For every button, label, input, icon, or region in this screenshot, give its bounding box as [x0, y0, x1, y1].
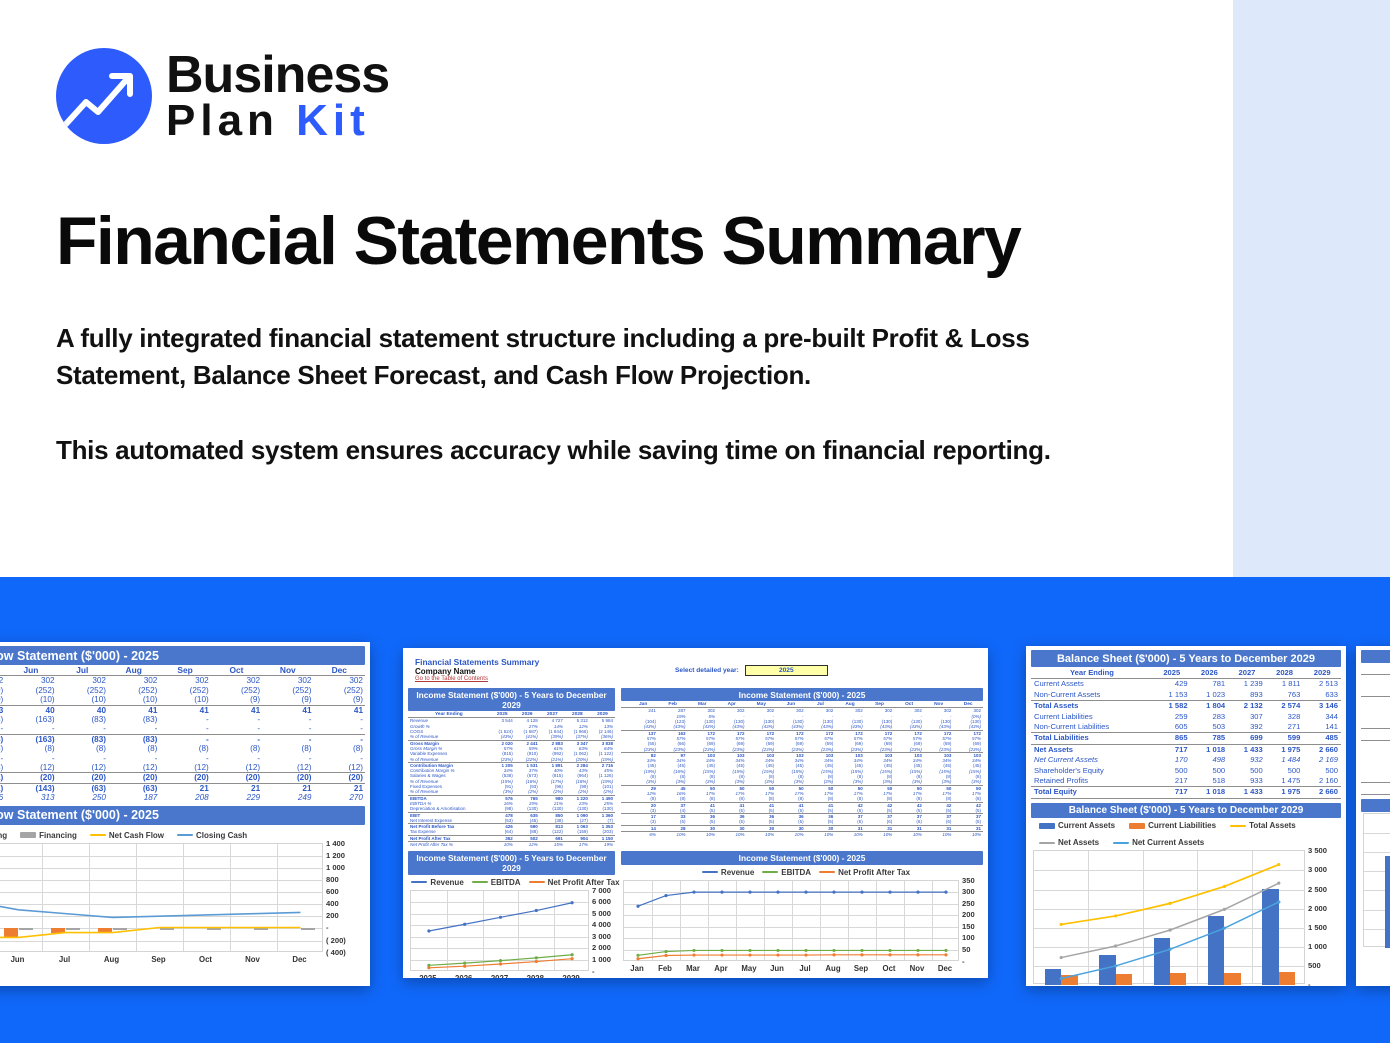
y-axis-tick: 2 000	[1308, 904, 1327, 913]
table-cell: 17%	[565, 842, 590, 848]
table-cell: -	[159, 734, 210, 744]
x-axis-tick: Feb	[651, 964, 679, 973]
legend-swatch	[90, 834, 106, 836]
table-cell: 10%	[687, 832, 717, 838]
table-cell: 1 018	[1191, 744, 1229, 755]
table-cell: 1 153	[1153, 690, 1191, 701]
cashflow-chart-title: Cash Flow Statement ($'000) - 2025	[0, 806, 365, 825]
y-axis-tick: 2 000	[592, 943, 611, 952]
legend-swatch	[472, 881, 488, 883]
x-axis-tick: Sep	[135, 955, 182, 964]
table-cell: (8)	[262, 744, 313, 753]
table-cell: 500	[1191, 766, 1229, 776]
table-row: 93	[1361, 708, 1390, 718]
y-axis-tick: 250	[962, 899, 975, 908]
legend-label: EBITDA	[491, 878, 521, 887]
column-header: Dec	[314, 666, 366, 676]
table-cell: 10%	[776, 832, 806, 838]
table-cell: (252)	[211, 686, 262, 695]
y-axis-tick: 500	[1308, 961, 1321, 970]
table-cell: 1 433	[1228, 744, 1266, 755]
legend-label: Current Assets	[1058, 821, 1115, 830]
row-label: Total Liabilities	[1031, 733, 1153, 744]
legend-item: EBITDA	[472, 878, 521, 887]
brand-name-line1: Business	[166, 51, 389, 100]
x-axis-tick: Jun	[0, 955, 41, 964]
plot-area	[623, 880, 959, 961]
table-row: Net Interest Expense(53)(45)(38)(27)(7)	[408, 818, 615, 824]
table-cell: 2 160	[1303, 776, 1341, 787]
table-cell: (12)	[159, 763, 210, 773]
table-row: Variable Expenses(815)(910)(992)(1 062)(…	[408, 751, 615, 756]
legend-item: EBITDA	[762, 868, 811, 877]
y-axis-tick: 600	[326, 887, 339, 896]
table-cell: (10)	[57, 695, 108, 705]
y-axis-tick: 1 200	[326, 851, 345, 860]
table-cell: 1 023	[1191, 690, 1229, 701]
growth-chart-icon	[56, 48, 152, 144]
table-cell: 124	[1361, 686, 1390, 697]
column-header: Jan	[1361, 664, 1390, 675]
table-cell: 12	[1361, 772, 1390, 783]
table-cell: -	[108, 724, 159, 734]
y-axis-tick: 400	[326, 899, 339, 908]
table-row: Salaries & Wages(538)(673)(815)(964)(1 1…	[408, 773, 615, 778]
year-picker-dropdown[interactable]: 2025	[745, 665, 828, 676]
table-cell: 10%	[806, 832, 836, 838]
table-cell: (163)	[5, 734, 56, 744]
table-cell: 21	[211, 783, 262, 793]
table-cell: -	[314, 724, 366, 734]
table-cell: 500	[1303, 766, 1341, 776]
table-cell: 302	[5, 676, 56, 686]
table-cell: 208	[159, 793, 210, 802]
balancesheet-screenshot-card[interactable]: Balance Sheet ($'000) - 5 Years to Decem…	[1026, 646, 1346, 986]
x-axis-tick: May	[735, 964, 763, 973]
legend-label: Net Profit After Tax	[838, 868, 910, 877]
table-cell: 599	[1266, 733, 1304, 744]
table-cell: 302	[57, 676, 108, 686]
table-cell: 19%	[590, 842, 615, 848]
table-row: 456313250187208229249270	[0, 793, 365, 802]
table-row: Retained Profits2175189331 4752 160	[1031, 776, 1341, 787]
y-axis-tick: ( 200)	[326, 936, 346, 945]
row-label: Net Assets	[1031, 744, 1153, 755]
row-label: Shareholder's Equity	[1031, 766, 1153, 776]
table-cell: -	[159, 715, 210, 724]
x-axis-tick: Nov	[229, 955, 276, 964]
table-cell: -	[57, 754, 108, 763]
table-cell: -	[108, 754, 159, 763]
table-row: (141)(143)(63)(63)21212121	[0, 783, 365, 793]
table-cell: (20)	[5, 773, 56, 783]
table-cell: (10)	[108, 695, 159, 705]
table-row: Total Equity7171 0181 4331 9752 660	[1031, 787, 1341, 798]
legend-swatch	[177, 834, 193, 836]
table-cell: 10%	[894, 832, 924, 838]
row-label: Current Assets	[1031, 679, 1153, 690]
table-header-row: Jan	[1361, 664, 1390, 675]
legend-item: Closing Cash	[177, 831, 247, 840]
table-row: Net Profit After Tax %10%12%15%17%19%	[408, 842, 615, 848]
table-cell: (12)	[211, 763, 262, 773]
table-cell: 302	[108, 676, 159, 686]
legend-label: EBITDA	[781, 868, 811, 877]
legend-item: Revenue	[411, 878, 463, 887]
y-axis-tick: 1 000	[1308, 942, 1327, 951]
table-cell: 1 475	[1266, 776, 1304, 787]
table-cell: 1 081	[1361, 751, 1390, 761]
table-cell: (143)	[5, 783, 56, 793]
table-of-contents-link[interactable]: Go to the Table of Contents	[408, 676, 983, 682]
x-axis-tick: Jan	[1363, 950, 1390, 959]
table-row: 500	[1361, 762, 1390, 772]
table-cell: -	[159, 754, 210, 763]
table-cell: 283	[1191, 712, 1229, 722]
y-axis-tick: 3 000	[592, 932, 611, 941]
table-cell: 1 811	[1266, 679, 1304, 690]
table-cell: -	[5, 754, 56, 763]
table-cell: 41	[314, 705, 366, 715]
y-axis-tick: 350	[962, 876, 975, 885]
x-axis-tick: Dec	[931, 964, 959, 973]
table-row: 1 297	[1361, 697, 1390, 708]
summary-screenshot-card[interactable]: Financial Statements Summary Company Nam…	[403, 648, 988, 978]
table-cell: (20)	[159, 773, 210, 783]
table-cell: 259	[1153, 712, 1191, 722]
table-cell: 271	[1266, 722, 1304, 733]
table-cell: (163)	[5, 715, 56, 724]
y-axis-tick: 300	[962, 887, 975, 896]
table-cell: (8)	[108, 744, 159, 753]
table-row: Net Current Assets1704989321 4842 169	[1031, 755, 1341, 765]
table-cell: 2 660	[1303, 744, 1341, 755]
brand-kit-word: Kit	[296, 96, 370, 145]
table-row: Shareholder's Equity500500500500500	[1031, 766, 1341, 776]
table-cell: 717	[1153, 744, 1191, 755]
table-cell: (12)	[5, 763, 56, 773]
table-cell: 699	[1228, 733, 1266, 744]
table-cell: 429	[1153, 679, 1191, 690]
table-cell: 763	[1266, 690, 1304, 701]
table-cell: 41	[262, 705, 313, 715]
table-cell: (12)	[314, 763, 366, 773]
table-cell: -	[57, 724, 108, 734]
legend-swatch	[20, 832, 36, 838]
hero-section: Business Plan Kit Financial Statements S…	[0, 0, 1390, 577]
table-cell: (63)	[57, 783, 108, 793]
table-cell: 1 804	[1191, 701, 1229, 712]
table-cell: 933	[1228, 776, 1266, 787]
table-row: (8)(8)(8)(8)(8)(8)(8)(8)	[0, 744, 365, 753]
row-label: Net Profit After Tax %	[408, 842, 490, 848]
table-cell: (9)	[211, 695, 262, 705]
annual-income-chart-title: Income Statement ($'000) - 5 Years to De…	[408, 851, 615, 874]
legend-swatch	[1039, 823, 1055, 829]
legend-swatch	[762, 871, 778, 873]
legend-item: Net Profit After Tax	[819, 868, 910, 877]
hero-side-panel	[1233, 0, 1390, 577]
table-cell: 2 574	[1266, 701, 1304, 712]
table-row: 692	[1361, 718, 1390, 729]
table-cell: (9)	[314, 695, 366, 705]
row-label: Net Current Assets	[1031, 755, 1153, 765]
year-picker-label: Select detailed year:	[675, 667, 739, 674]
monthly-balancesheet-chart: Jan	[1361, 813, 1390, 963]
table-cell: 10%	[953, 832, 983, 838]
column-header: Oct	[211, 666, 262, 676]
x-axis-tick: Dec	[276, 955, 323, 964]
table-cell: (83)	[108, 715, 159, 724]
row-label: Total Equity	[1031, 787, 1153, 798]
table-cell: 717	[1153, 787, 1191, 798]
table-row: 1 174	[1361, 675, 1390, 686]
y-axis-tick: ( 400)	[326, 948, 346, 957]
column-header: Sep	[159, 666, 210, 676]
legend-label: Revenue	[430, 878, 463, 887]
row-label	[621, 832, 628, 838]
table-row: 302302302302302302302302	[0, 676, 365, 686]
table-row: --------	[0, 724, 365, 734]
table-cell: (20)	[57, 773, 108, 783]
table-cell: (83)	[57, 734, 108, 744]
table-row: Net Assets7171 0181 4331 9752 660	[1031, 744, 1341, 755]
table-cell: 500	[1361, 762, 1390, 772]
column-header: 2028	[1266, 668, 1304, 679]
table-cell: (252)	[5, 686, 56, 695]
legend-swatch	[819, 871, 835, 873]
table-cell: 485	[1303, 733, 1341, 744]
table-cell: 10%	[924, 832, 954, 838]
legend-item: Net Current Assets	[1113, 838, 1204, 847]
table-cell: (8)	[314, 744, 366, 753]
table-row: 6%10%10%10%10%10%10%10%10%10%10%10%	[621, 832, 983, 838]
y-axis-tick: 1 500	[1308, 923, 1327, 932]
x-axis-tick: Oct	[182, 955, 229, 964]
monthly-income-table: JanFebMarAprMayJunJulAugSepOctNovDec2412…	[621, 702, 983, 837]
column-header: Jun	[5, 666, 56, 676]
brand-plan-word: Plan	[166, 96, 279, 145]
table-cell: (20)	[262, 773, 313, 783]
table-cell: 932	[1228, 755, 1266, 765]
table-cell: 250	[57, 793, 108, 802]
table-row: Non-Current Assets1 1531 023893763633	[1031, 690, 1341, 701]
legend-item: Investing	[0, 831, 7, 840]
table-cell: -	[211, 715, 262, 724]
table-cell: (9)	[262, 695, 313, 705]
table-row: --------	[0, 754, 365, 763]
row-label: Year Ending	[1031, 668, 1153, 679]
table-cell: 270	[314, 793, 366, 802]
table-row: (249)(252)(252)(252)(252)(252)(252)(252)	[0, 686, 365, 695]
table-row: (21)(20)(20)(20)(20)(20)(20)(20)	[0, 773, 365, 783]
cashflow-chart-legend: InvestingFinancingNet Cash FlowClosing C…	[0, 829, 365, 843]
table-cell: 229	[211, 793, 262, 802]
table-cell: 512	[1361, 740, 1390, 751]
monthly-balancesheet-title	[1361, 650, 1390, 663]
table-cell: 2 513	[1303, 679, 1341, 690]
x-axis-tick: Jan	[623, 964, 651, 973]
table-cell: 313	[5, 793, 56, 802]
plot-area	[1363, 813, 1390, 947]
table-row: 512	[1361, 783, 1390, 794]
x-axis-tick: Jun	[763, 964, 791, 973]
table-cell: 10%	[658, 832, 688, 838]
x-axis-tick: Aug	[819, 964, 847, 973]
table-row: 1 081	[1361, 751, 1390, 761]
table-cell: 302	[159, 676, 210, 686]
table-row: Total Assets1 5821 8042 1322 5743 146	[1031, 701, 1341, 712]
table-cell: 307	[1228, 712, 1266, 722]
legend-label: Current Liabilities	[1148, 821, 1216, 830]
table-cell: 893	[1228, 690, 1266, 701]
hero-paragraph-1: A fully integrated financial statement s…	[56, 320, 1156, 394]
table-cell: (8)	[159, 744, 210, 753]
legend-swatch	[1039, 842, 1055, 844]
table-row: 512	[1361, 740, 1390, 751]
legend-label: Investing	[0, 831, 7, 840]
table-cell: -	[211, 754, 262, 763]
table-cell: 2 169	[1303, 755, 1341, 765]
table-cell: (252)	[159, 686, 210, 695]
monthly-chart-legend: RevenueEBITDANet Profit After Tax	[621, 866, 983, 880]
table-cell: 21	[262, 783, 313, 793]
table-cell: 344	[1303, 712, 1341, 722]
legend-label: Net Current Assets	[1132, 838, 1204, 847]
y-axis-tick: 100	[962, 933, 975, 942]
x-axis-tick: 2027	[482, 974, 518, 979]
x-axis-tick: Jul	[41, 955, 88, 964]
y-axis-tick: 1 000	[592, 955, 611, 964]
y-axis-tick: 5 000	[592, 909, 611, 918]
y-axis-tick: 7 000	[592, 886, 611, 895]
table-row: 12	[1361, 772, 1390, 783]
table-cell: 500	[1153, 766, 1191, 776]
table-cell: 10%	[490, 842, 515, 848]
hero-paragraph-2: This automated system ensures accuracy w…	[56, 432, 1156, 469]
table-cell: -	[211, 724, 262, 734]
legend-label: Net Cash Flow	[109, 831, 164, 840]
table-cell: (83)	[108, 734, 159, 744]
row-label: Retained Profits	[1031, 776, 1153, 787]
table-cell: 249	[262, 793, 313, 802]
year-picker[interactable]: Select detailed year: 2025	[675, 665, 828, 676]
table-row: Depreciation & Amortisation(98)(130)(130…	[408, 806, 615, 812]
x-axis-tick: Apr	[707, 964, 735, 973]
y-axis-tick: -	[592, 967, 595, 976]
table-cell: 3 146	[1303, 701, 1341, 712]
x-axis-tick: 2025	[410, 974, 446, 979]
y-axis-tick: 1 000	[326, 863, 345, 872]
column-header: 2026	[1191, 668, 1229, 679]
monthly-balancesheet-screenshot-card[interactable]: Jan1 1741241 297936927865121 08150012512…	[1356, 646, 1390, 986]
table-cell: 170	[1153, 755, 1191, 765]
page-title: Financial Statements Summary	[56, 202, 1176, 280]
legend-item: Total Assets	[1230, 821, 1296, 830]
annual-income-table: Year Ending20252026202720282029Revenue3 …	[408, 712, 615, 847]
table-cell: (252)	[108, 686, 159, 695]
balancesheet-chart-title: Balance Sheet ($'000) - 5 Years to Decem…	[1031, 803, 1341, 818]
y-axis-tick: 800	[326, 875, 339, 884]
table-row: Non-Current Liabilities605503392271141	[1031, 722, 1341, 733]
table-header-row: Year Ending20252026202720282029	[1031, 668, 1341, 679]
legend-item: Current Liabilities	[1129, 821, 1216, 830]
table-cell: -	[5, 724, 56, 734]
table-cell: 40	[5, 705, 56, 715]
x-axis-tick: 2029	[553, 974, 589, 979]
table-cell: (12)	[57, 763, 108, 773]
table-cell: 40	[57, 705, 108, 715]
legend-swatch	[1230, 825, 1246, 827]
y-axis-tick: 3 500	[1308, 846, 1327, 855]
legend-swatch	[1129, 823, 1145, 829]
legend-label: Closing Cash	[196, 831, 247, 840]
table-cell: 302	[262, 676, 313, 686]
table-cell: 21	[314, 783, 366, 793]
table-cell: 41	[108, 705, 159, 715]
cashflow-chart: InvestingFinancingNet Cash FlowClosing C…	[0, 826, 365, 978]
legend-label: Revenue	[721, 868, 754, 877]
y-axis-tick: -	[326, 923, 329, 932]
brand-logo: Business Plan Kit	[56, 48, 389, 144]
legend-label: Total Assets	[1249, 821, 1296, 830]
y-axis-tick: 2 500	[1308, 885, 1327, 894]
y-axis-tick: 50	[962, 945, 970, 954]
row-label: Non-Current Assets	[1031, 690, 1153, 701]
table-cell: 302	[314, 676, 366, 686]
monthly-income-title: Income Statement ($'000) - 2025	[621, 688, 983, 701]
column-header: Jul	[57, 666, 108, 676]
monthly-balancesheet-chart-title	[1361, 799, 1390, 812]
table-cell: 512	[1361, 783, 1390, 794]
table-cell: -	[314, 715, 366, 724]
table-cell: (8)	[57, 744, 108, 753]
table-cell: (12)	[262, 763, 313, 773]
table-row: (163)(163)(83)(83)----	[0, 734, 365, 744]
x-axis-tick: 2026	[446, 974, 482, 979]
table-cell: 1 297	[1361, 697, 1390, 708]
column-header: Nov	[262, 666, 313, 676]
table-row: Current Liabilities259283307328344	[1031, 712, 1341, 722]
legend-item: Financing	[20, 831, 77, 840]
table-cell: 786	[1361, 729, 1390, 740]
balancesheet-table-title: Balance Sheet ($'000) - 5 Years to Decem…	[1031, 650, 1341, 667]
table-cell: (252)	[262, 686, 313, 695]
table-cell: -	[314, 734, 366, 744]
cashflow-screenshot-card[interactable]: Cash Flow Statement ($'000) - 2025 MayJu…	[0, 642, 370, 986]
table-cell: (10)	[5, 695, 56, 705]
table-cell: 781	[1191, 679, 1229, 690]
table-cell: 500	[1266, 766, 1304, 776]
table-cell: 41	[159, 705, 210, 715]
legend-item: Net Cash Flow	[90, 831, 164, 840]
table-cell: 865	[1153, 733, 1191, 744]
y-axis-tick: 4 000	[592, 920, 611, 929]
table-cell: (20)	[108, 773, 159, 783]
table-cell: (8)	[211, 744, 262, 753]
annual-income-title: Income Statement ($'000) - 5 Years to De…	[408, 688, 615, 711]
annual-chart-legend: RevenueEBITDANet Profit After Tax	[408, 876, 615, 890]
row-label: Current Liabilities	[1031, 712, 1153, 722]
table-cell: 1 174	[1361, 675, 1390, 686]
cashflow-table-title: Cash Flow Statement ($'000) - 2025	[0, 646, 365, 665]
table-cell: 302	[211, 676, 262, 686]
table-cell: 2 660	[1303, 787, 1341, 798]
column-header: 2029	[1303, 668, 1341, 679]
table-cell: (83)	[57, 715, 108, 724]
y-axis-tick: 150	[962, 922, 975, 931]
balancesheet-table: Year Ending20252026202720282029Current A…	[1031, 668, 1341, 799]
